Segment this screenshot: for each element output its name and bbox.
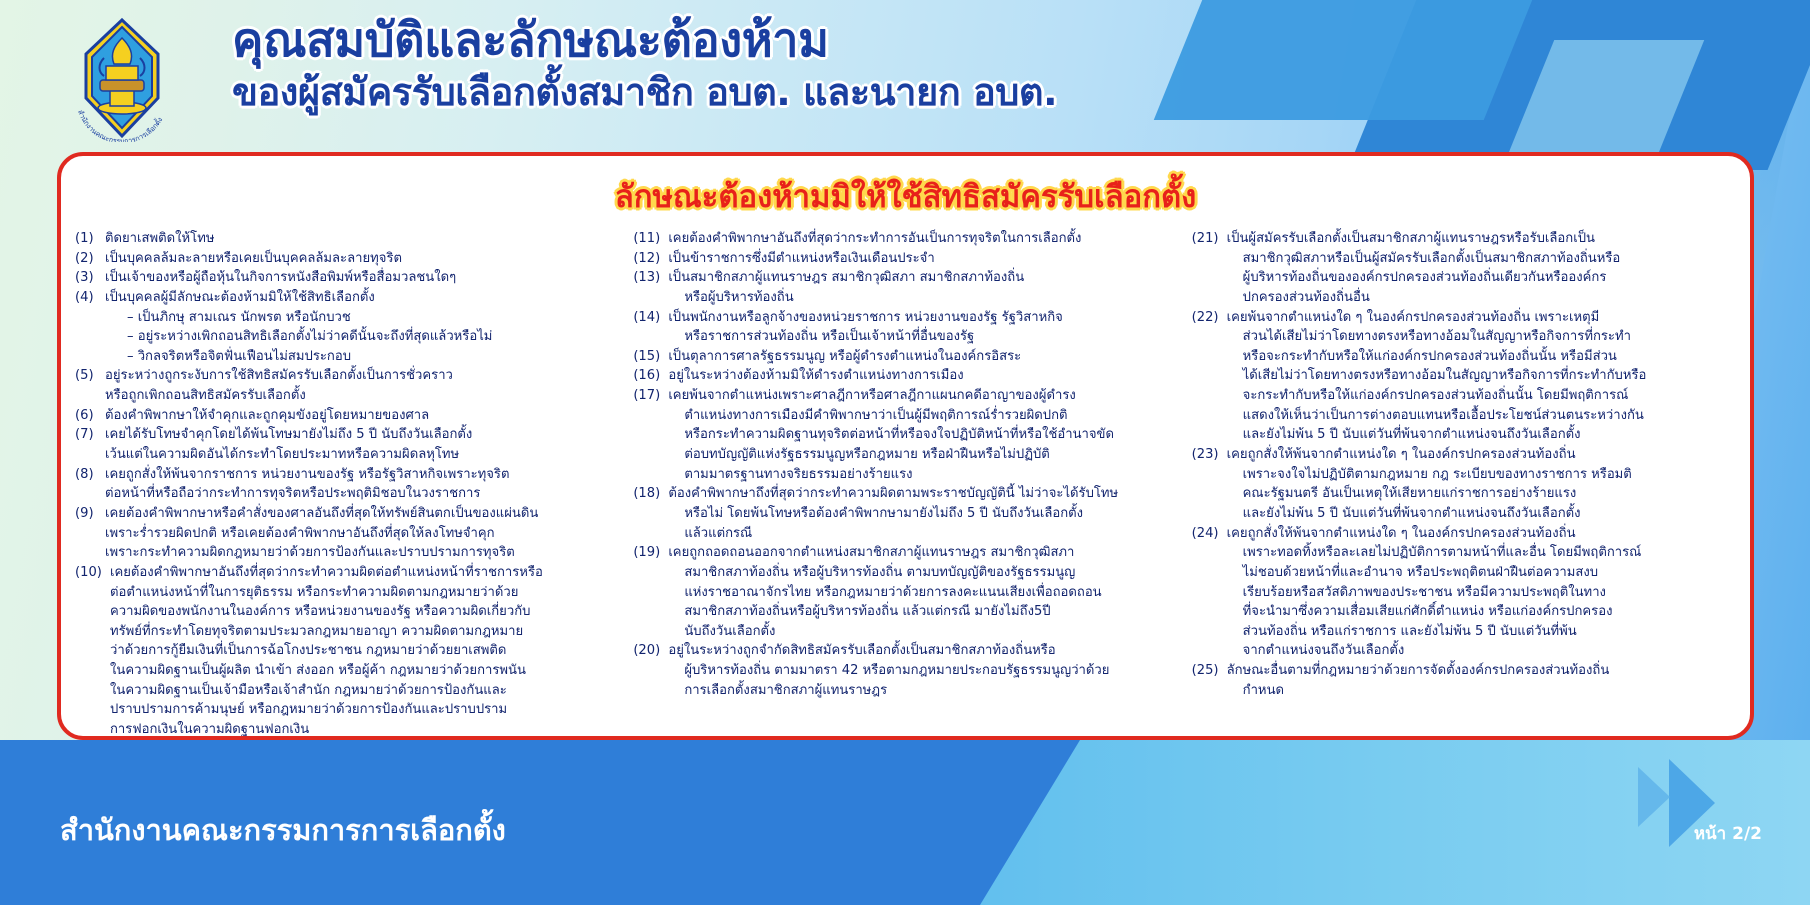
list-item-sub-line: – เป็นภิกษุ สามเณร นักพรต หรือนักบวช	[105, 308, 619, 328]
list-item-line: เป็นเจ้าของหรือผู้ถือหุ้นในกิจการหนังสือ…	[105, 268, 619, 288]
list-item-number: (5)	[75, 366, 105, 405]
list-item-body: เป็นตุลาการศาลรัฐธรรมนูญ หรือผู้ดำรงตำแห…	[668, 347, 1177, 367]
list-item-line: อยู่ในระหว่างถูกจำกัดสิทธิสมัครรับเลือกต…	[668, 641, 1177, 661]
list-item-number: (14)	[633, 308, 668, 347]
list-item-body: เป็นสมาชิกสภาผู้แทนราษฎร สมาชิกวุฒิสภา ส…	[668, 268, 1177, 307]
list-item-line: ตามมาตรฐานทางจริยธรรมอย่างร้ายแรง	[668, 465, 1177, 485]
list-item-line: ผู้บริหารท้องถิ่น ตามมาตรา 42 หรือตามกฎห…	[668, 661, 1177, 681]
content-column-1: (1)ติดยาเสพติดให้โทษ(2)เป็นบุคคลล้มละลาย…	[71, 229, 623, 740]
list-item-line: ต่อหน้าที่หรือถือว่ากระทำการทุจริตหรือปร…	[105, 484, 619, 504]
title-line-1: คุณสมบัติและลักษณะต้องห้าม	[232, 16, 1412, 66]
list-item-line: คณะรัฐมนตรี อันเป็นเหตุให้เสียหายแก่ราชก…	[1227, 484, 1736, 504]
list-item-line: สมาชิกสภาท้องถิ่น หรือผู้บริหารท้องถิ่น …	[668, 563, 1177, 583]
list-item: (1)ติดยาเสพติดให้โทษ	[75, 229, 619, 249]
footer-arrow-small-icon	[1638, 767, 1670, 827]
list-item-number: (7)	[75, 425, 105, 464]
list-item: (4)เป็นบุคคลผู้มีลักษณะต้องห้ามมิให้ใช้ส…	[75, 288, 619, 367]
list-item: (8)เคยถูกสั่งให้พ้นจากราชการ หน่วยงานของ…	[75, 465, 619, 504]
list-item-number: (6)	[75, 406, 105, 426]
list-item-body: ต้องคำพิพากษาถึงที่สุดว่ากระทำความผิดตาม…	[668, 484, 1177, 543]
list-item-number: (13)	[633, 268, 668, 307]
list-item-number: (15)	[633, 347, 668, 367]
list-item-line: เพราะจงใจไม่ปฏิบัติตามกฎหมาย กฎ ระเบียบข…	[1227, 465, 1736, 485]
list-item-body: ติดยาเสพติดให้โทษ	[105, 229, 619, 249]
list-item-number: (2)	[75, 249, 105, 269]
list-item-line: เป็นสมาชิกสภาผู้แทนราษฎร สมาชิกวุฒิสภา ส…	[668, 268, 1177, 288]
list-item-line: เคยถูกสั่งให้พ้นจากตำแหน่งใด ๆ ในองค์กรป…	[1227, 445, 1736, 465]
list-item-line: ว่าด้วยการกู้ยืมเงินที่เป็นการฉ้อโกงประช…	[110, 641, 619, 661]
list-item-line: แห่งราชอาณาจักรไทย หรือกฎหมายว่าด้วยการล…	[668, 583, 1177, 603]
list-item-number: (19)	[633, 543, 668, 641]
list-item-line: เป็นผู้สมัครรับเลือกตั้งเป็นสมาชิกสภาผู้…	[1227, 229, 1736, 249]
list-item-line: การเลือกตั้งสมาชิกสภาผู้แทนราษฎร	[668, 681, 1177, 701]
list-item: (3)เป็นเจ้าของหรือผู้ถือหุ้นในกิจการหนัง…	[75, 268, 619, 288]
poster-header: สำนักงานคณะกรรมการการเลือกตั้ง คุณสมบัติ…	[0, 0, 1810, 148]
list-item-line: ส่วนได้เสียไม่ว่าโดยทางตรงหรือทางอ้อมในส…	[1227, 327, 1736, 347]
list-item: (12)เป็นข้าราชการซึ่งมีตำแหน่งหรือเงินเด…	[633, 249, 1177, 269]
list-item-number: (22)	[1192, 308, 1227, 445]
list-item-body: ลักษณะอื่นตามที่กฎหมายว่าด้วยการจัดตั้งอ…	[1227, 661, 1736, 700]
list-item-body: เคยต้องคำพิพากษาหรือคำสั่งของศาลอันถึงที…	[105, 504, 619, 563]
footer-page-number: หน้า 2/2	[1694, 820, 1762, 847]
list-item: (21)เป็นผู้สมัครรับเลือกตั้งเป็นสมาชิกสภ…	[1192, 229, 1736, 308]
poster-footer: สำนักงานคณะกรรมการการเลือกตั้ง หน้า 2/2	[0, 740, 1810, 905]
list-item-line: แสดงให้เห็นว่าเป็นการต่างตอบแทนหรือเอื้อ…	[1227, 406, 1736, 426]
content-columns: (1)ติดยาเสพติดให้โทษ(2)เป็นบุคคลล้มละลาย…	[61, 221, 1750, 740]
list-item-line: ได้เสียไม่ว่าโดยทางตรงหรือทางอ้อมในสัญญา…	[1227, 366, 1736, 386]
list-item-number: (23)	[1192, 445, 1227, 524]
list-item-body: เคยถูกถอดถอนออกจากตำแหน่งสมาชิกสภาผู้แทน…	[668, 543, 1177, 641]
list-item-line: หรือผู้บริหารท้องถิ่น	[668, 288, 1177, 308]
list-item: (11)เคยต้องคำพิพากษาอันถึงที่สุดว่ากระทำ…	[633, 229, 1177, 249]
list-item-number: (18)	[633, 484, 668, 543]
list-item-line: หรือจะกระทำกับหรือให้แก่องค์กรปกครองส่วน…	[1227, 347, 1736, 367]
list-item-line: ลักษณะอื่นตามที่กฎหมายว่าด้วยการจัดตั้งอ…	[1227, 661, 1736, 681]
list-item-body: เป็นบุคคลล้มละลายหรือเคยเป็นบุคคลล้มละลา…	[105, 249, 619, 269]
list-item-line: ที่จะนำมาซึ่งความเสื่อมเสียแก่ศักดิ์ตำแห…	[1227, 602, 1736, 622]
list-item-number: (1)	[75, 229, 105, 249]
list-item-body: เป็นผู้สมัครรับเลือกตั้งเป็นสมาชิกสภาผู้…	[1227, 229, 1736, 308]
list-item-line: ปกครองส่วนท้องถิ่นอื่น	[1227, 288, 1736, 308]
list-item-line: ทรัพย์ที่กระทำโดยทุจริตตามประมวลกฎหมายอา…	[110, 622, 619, 642]
list-item-number: (4)	[75, 288, 105, 367]
list-item-line: เคยต้องคำพิพากษาอันถึงที่สุดว่ากระทำการอ…	[668, 229, 1177, 249]
list-item-line: เป็นพนักงานหรือลูกจ้างของหน่วยราชการ หน่…	[668, 308, 1177, 328]
list-item-body: เคยพ้นจากตำแหน่งใด ๆ ในองค์กรปกครองส่วนท…	[1227, 308, 1736, 445]
list-item: (16)อยู่ในระหว่างต้องห้ามมิให้ดำรงตำแหน่…	[633, 366, 1177, 386]
list-item-line: หรือถูกเพิกถอนสิทธิสมัครรับเลือกตั้ง	[105, 386, 619, 406]
list-item: (10)เคยต้องคำพิพากษาอันถึงที่สุดว่ากระทำ…	[75, 563, 619, 740]
list-item-line: เป็นตุลาการศาลรัฐธรรมนูญ หรือผู้ดำรงตำแห…	[668, 347, 1177, 367]
title-line-2: ของผู้สมัครรับเลือกตั้งสมาชิก อบต. และนา…	[232, 72, 1412, 112]
list-item-number: (9)	[75, 504, 105, 563]
list-item-number: (12)	[633, 249, 668, 269]
list-item: (6)ต้องคำพิพากษาให้จำคุกและถูกคุมขังอยู่…	[75, 406, 619, 426]
list-item-line: เคยถูกถอดถอนออกจากตำแหน่งสมาชิกสภาผู้แทน…	[668, 543, 1177, 563]
list-item-line: เว้นแต่ในความผิดอันได้กระทำโดยประมาทหรือ…	[105, 445, 619, 465]
list-item-line: เคยต้องคำพิพากษาหรือคำสั่งของศาลอันถึงที…	[105, 504, 619, 524]
list-item-line: จากตำแหน่งจนถึงวันเลือกตั้ง	[1227, 641, 1736, 661]
list-item-number: (21)	[1192, 229, 1227, 308]
list-item-line: เคยพ้นจากตำแหน่งใด ๆ ในองค์กรปกครองส่วนท…	[1227, 308, 1736, 328]
list-item-sub-line: – วิกลจริตหรือจิตฟั่นเฟือนไม่สมประกอบ	[105, 347, 619, 367]
list-item-number: (11)	[633, 229, 668, 249]
list-item-body: เคยถูกสั่งให้พ้นจากราชการ หน่วยงานของรัฐ…	[105, 465, 619, 504]
list-item-line: ผู้บริหารท้องถิ่นขององค์กรปกครองส่วนท้อง…	[1227, 268, 1736, 288]
list-item-body: เป็นเจ้าของหรือผู้ถือหุ้นในกิจการหนังสือ…	[105, 268, 619, 288]
list-item-line: สมาชิกสภาท้องถิ่นหรือผู้บริหารท้องถิ่น แ…	[668, 602, 1177, 622]
list-item-sub-line: – อยู่ระหว่างเพิกถอนสิทธิเลือกตั้งไม่ว่า…	[105, 327, 619, 347]
list-item-line: เป็นข้าราชการซึ่งมีตำแหน่งหรือเงินเดือนป…	[668, 249, 1177, 269]
list-item-body: อยู่ระหว่างถูกระงับการใช้สิทธิสมัครรับเล…	[105, 366, 619, 405]
list-item-body: เคยพ้นจากตำแหน่งเพราะศาลฎีกาหรือศาลฎีกาแ…	[668, 386, 1177, 484]
list-item-line: ไม่ชอบด้วยหน้าที่และอำนาจ หรือประพฤติตนฝ…	[1227, 563, 1736, 583]
list-item-line: หรือกระทำความผิดฐานทุจริตต่อหน้าที่หรือจ…	[668, 425, 1177, 445]
list-item-line: เป็นบุคคลล้มละลายหรือเคยเป็นบุคคลล้มละลา…	[105, 249, 619, 269]
list-item-line: แล้วแต่กรณี	[668, 524, 1177, 544]
list-item-body: เป็นพนักงานหรือลูกจ้างของหน่วยราชการ หน่…	[668, 308, 1177, 347]
list-item-line: เป็นบุคคลผู้มีลักษณะต้องห้ามมิให้ใช้สิทธ…	[105, 288, 619, 308]
list-item: (15)เป็นตุลาการศาลรัฐธรรมนูญ หรือผู้ดำรง…	[633, 347, 1177, 367]
list-item-line: ติดยาเสพติดให้โทษ	[105, 229, 619, 249]
list-item-line: อยู่ระหว่างถูกระงับการใช้สิทธิสมัครรับเล…	[105, 366, 619, 386]
list-item-line: ปราบปรามการค้ามนุษย์ หรือกฎหมายว่าด้วยกา…	[110, 700, 619, 720]
list-item-number: (20)	[633, 641, 668, 700]
list-item-number: (3)	[75, 268, 105, 288]
list-item-body: ต้องคำพิพากษาให้จำคุกและถูกคุมขังอยู่โดย…	[105, 406, 619, 426]
list-item-line: กำหนด	[1227, 681, 1736, 701]
list-item-body: เคยได้รับโทษจำคุกโดยได้พ้นโทษมายังไม่ถึง…	[105, 425, 619, 464]
list-item-body: อยู่ในระหว่างถูกจำกัดสิทธิสมัครรับเลือกต…	[668, 641, 1177, 700]
list-item-line: หรือไม่ โดยพ้นโทษหรือต้องคำพิพากษามายังไ…	[668, 504, 1177, 524]
list-item-line: เคยได้รับโทษจำคุกโดยได้พ้นโทษมายังไม่ถึง…	[105, 425, 619, 445]
list-item-number: (25)	[1192, 661, 1227, 700]
poster-root: สำนักงานคณะกรรมการการเลือกตั้ง คุณสมบัติ…	[0, 0, 1810, 905]
list-item-body: เคยถูกสั่งให้พ้นจากตำแหน่งใด ๆ ในองค์กรป…	[1227, 445, 1736, 524]
list-item: (20)อยู่ในระหว่างถูกจำกัดสิทธิสมัครรับเล…	[633, 641, 1177, 700]
list-item-line: เพราะกระทำความผิดกฎหมายว่าด้วยการป้องกัน…	[105, 543, 619, 563]
list-item-number: (17)	[633, 386, 668, 484]
list-item-number: (24)	[1192, 524, 1227, 661]
list-item-line: นับถึงวันเลือกตั้ง	[668, 622, 1177, 642]
list-item-line: ในความผิดฐานเป็นเจ้ามือหรือเจ้าสำนัก กฎห…	[110, 681, 619, 701]
list-item-line: เคยต้องคำพิพากษาอันถึงที่สุดว่ากระทำความ…	[110, 563, 619, 583]
list-item-line: เพราะทอดทิ้งหรือละเลยไม่ปฏิบัติการตามหน้…	[1227, 543, 1736, 563]
list-item: (13)เป็นสมาชิกสภาผู้แทนราษฎร สมาชิกวุฒิส…	[633, 268, 1177, 307]
list-item-line: ต้องคำพิพากษาให้จำคุกและถูกคุมขังอยู่โดย…	[105, 406, 619, 426]
list-item-line: การฟอกเงินในความผิดฐานฟอกเงิน	[110, 720, 619, 740]
list-item: (5)อยู่ระหว่างถูกระงับการใช้สิทธิสมัครรั…	[75, 366, 619, 405]
list-item: (24)เคยถูกสั่งให้พ้นจากตำแหน่งใด ๆ ในองค…	[1192, 524, 1736, 661]
list-item-line: ต้องคำพิพากษาถึงที่สุดว่ากระทำความผิดตาม…	[668, 484, 1177, 504]
list-item-line: และยังไม่พ้น 5 ปี นับแต่วันที่พ้นจากตำแห…	[1227, 425, 1736, 445]
list-item-line: หรือราชการส่วนท้องถิ่น หรือเป็นเจ้าหน้าท…	[668, 327, 1177, 347]
page-title: คุณสมบัติและลักษณะต้องห้าม ของผู้สมัครรั…	[232, 16, 1412, 112]
list-item-line: เคยพ้นจากตำแหน่งเพราะศาลฎีกาหรือศาลฎีกาแ…	[668, 386, 1177, 406]
ect-emblem-icon: สำนักงานคณะกรรมการการเลือกตั้ง	[62, 14, 182, 142]
content-column-3: (21)เป็นผู้สมัครรับเลือกตั้งเป็นสมาชิกสภ…	[1188, 229, 1740, 700]
list-item-body: เคยต้องคำพิพากษาอันถึงที่สุดว่ากระทำการอ…	[668, 229, 1177, 249]
list-item-line: เพราะร่ำรวยผิดปกติ หรือเคยต้องคำพิพากษาอ…	[105, 524, 619, 544]
list-item: (19)เคยถูกถอดถอนออกจากตำแหน่งสมาชิกสภาผู…	[633, 543, 1177, 641]
list-item-number: (8)	[75, 465, 105, 504]
list-item-line: เคยถูกสั่งให้พ้นจากตำแหน่งใด ๆ ในองค์กรป…	[1227, 524, 1736, 544]
list-item-body: เคยถูกสั่งให้พ้นจากตำแหน่งใด ๆ ในองค์กรป…	[1227, 524, 1736, 661]
card-heading: ลักษณะต้องห้ามมิให้ใช้สิทธิสมัครรับเลือก…	[61, 171, 1750, 221]
list-item-line: และยังไม่พ้น 5 ปี นับแต่วันที่พ้นจากตำแห…	[1227, 504, 1736, 524]
list-item-line: จะกระทำกับหรือให้แก่องค์กรปกครองส่วนท้อง…	[1227, 386, 1736, 406]
list-item: (25)ลักษณะอื่นตามที่กฎหมายว่าด้วยการจัดต…	[1192, 661, 1736, 700]
list-item-number: (16)	[633, 366, 668, 386]
footer-organization-name: สำนักงานคณะกรรมการการเลือกตั้ง	[60, 807, 506, 853]
list-item-line: ตำแหน่งทางการเมืองมีคำพิพากษาว่าเป็นผู้ม…	[668, 406, 1177, 426]
list-item-line: ต่อบทบัญญัติแห่งรัฐธรรมนูญหรือกฎหมาย หรื…	[668, 445, 1177, 465]
list-item: (17)เคยพ้นจากตำแหน่งเพราะศาลฎีกาหรือศาลฎ…	[633, 386, 1177, 484]
content-column-2: (11)เคยต้องคำพิพากษาอันถึงที่สุดว่ากระทำ…	[629, 229, 1181, 700]
list-item-body: เป็นข้าราชการซึ่งมีตำแหน่งหรือเงินเดือนป…	[668, 249, 1177, 269]
list-item-line: ความผิดของพนักงานในองค์การ หรือหน่วยงานข…	[110, 602, 619, 622]
list-item-line: สมาชิกวุฒิสภาหรือเป็นผู้สมัครรับเลือกตั้…	[1227, 249, 1736, 269]
list-item-body: เคยต้องคำพิพากษาอันถึงที่สุดว่ากระทำความ…	[110, 563, 619, 740]
content-card: ลักษณะต้องห้ามมิให้ใช้สิทธิสมัครรับเลือก…	[57, 152, 1754, 740]
list-item: (14)เป็นพนักงานหรือลูกจ้างของหน่วยราชการ…	[633, 308, 1177, 347]
list-item-body: เป็นบุคคลผู้มีลักษณะต้องห้ามมิให้ใช้สิทธ…	[105, 288, 619, 367]
list-item-line: ต่อตำแหน่งหน้าที่ในการยุติธรรม หรือกระทำ…	[110, 583, 619, 603]
list-item: (7)เคยได้รับโทษจำคุกโดยได้พ้นโทษมายังไม่…	[75, 425, 619, 464]
list-item-line: อยู่ในระหว่างต้องห้ามมิให้ดำรงตำแหน่งทาง…	[668, 366, 1177, 386]
list-item-line: ส่วนท้องถิ่น หรือแก่ราชการ และยังไม่พ้น …	[1227, 622, 1736, 642]
list-item-line: เคยถูกสั่งให้พ้นจากราชการ หน่วยงานของรัฐ…	[105, 465, 619, 485]
list-item-line: เรียบร้อยหรือสวัสดิภาพของประชาชน หรือมีค…	[1227, 583, 1736, 603]
list-item: (22)เคยพ้นจากตำแหน่งใด ๆ ในองค์กรปกครองส…	[1192, 308, 1736, 445]
list-item: (2)เป็นบุคคลล้มละลายหรือเคยเป็นบุคคลล้มล…	[75, 249, 619, 269]
list-item-number: (10)	[75, 563, 110, 740]
list-item: (9)เคยต้องคำพิพากษาหรือคำสั่งของศาลอันถึ…	[75, 504, 619, 563]
list-item-line: ในความผิดฐานเป็นผู้ผลิต นำเข้า ส่งออก หร…	[110, 661, 619, 681]
list-item: (18)ต้องคำพิพากษาถึงที่สุดว่ากระทำความผิ…	[633, 484, 1177, 543]
list-item: (23)เคยถูกสั่งให้พ้นจากตำแหน่งใด ๆ ในองค…	[1192, 445, 1736, 524]
list-item-body: อยู่ในระหว่างต้องห้ามมิให้ดำรงตำแหน่งทาง…	[668, 366, 1177, 386]
